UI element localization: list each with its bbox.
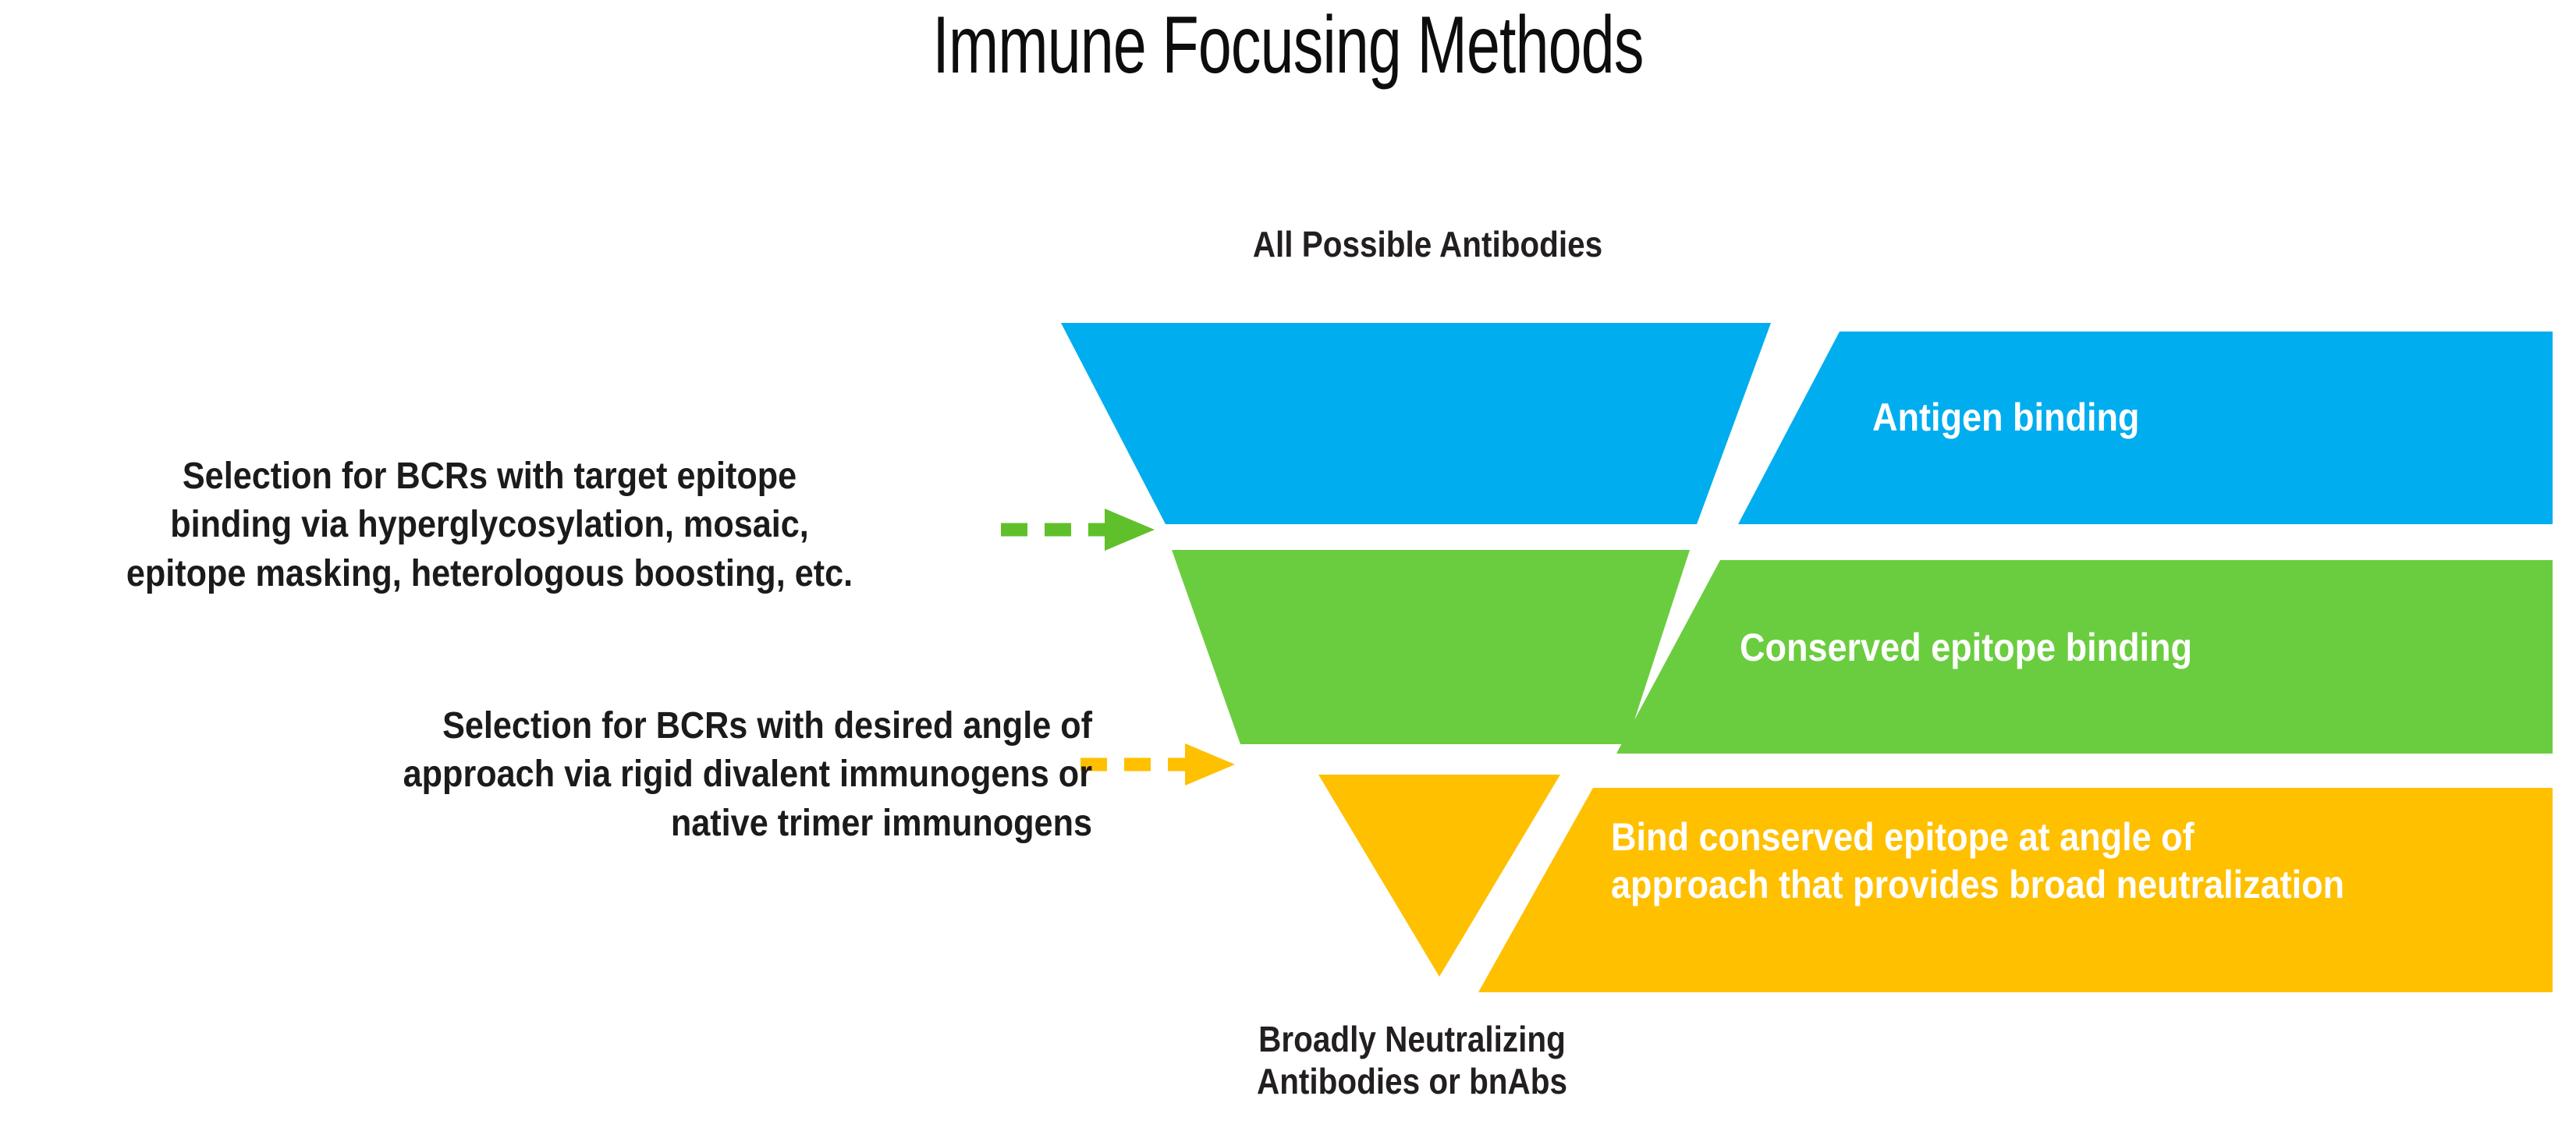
bar-label-line: approach that provides broad neutralizat… bbox=[1611, 861, 2344, 909]
bar-label-broad-neutralization: Bind conserved epitope at angle of appro… bbox=[1611, 814, 2344, 909]
bar-label-line: Conserved epitope binding bbox=[1740, 624, 2192, 672]
annotation-line: binding via hyperglycosylation, mosaic, bbox=[49, 501, 931, 549]
bar-label-antigen-binding: Antigen binding bbox=[1872, 394, 2139, 442]
green-dashed-arrow bbox=[1001, 509, 1155, 551]
yellow-dashed-arrow bbox=[1080, 743, 1235, 786]
annotation-line: approach via rigid divalent immunogens o… bbox=[261, 750, 1093, 799]
bar-antigen-binding bbox=[1738, 332, 2553, 524]
annotation-line: epitope masking, heterologous boosting, … bbox=[49, 550, 931, 598]
annotation-line: Selection for BCRs with desired angle of bbox=[261, 702, 1093, 750]
diagram-canvas: Immune Focusing Methods All Possible Ant… bbox=[0, 0, 2576, 1135]
funnel-bottom-caption: Broadly Neutralizing Antibodies or bnAbs bbox=[1151, 1019, 1673, 1103]
bar-label-conserved-epitope: Conserved epitope binding bbox=[1740, 624, 2192, 672]
bar-label-line: Antigen binding bbox=[1872, 394, 2139, 442]
annotation-hyperglycosylation: Selection for BCRs with target epitope b… bbox=[49, 452, 931, 598]
annotation-line: Selection for BCRs with target epitope bbox=[49, 452, 931, 501]
funnel-segment-antigen-binding bbox=[1061, 323, 1771, 524]
bar-label-line: Bind conserved epitope at angle of bbox=[1611, 814, 2344, 861]
annotation-line: native trimer immunogens bbox=[261, 800, 1093, 848]
annotation-angle-of-approach: Selection for BCRs with desired angle of… bbox=[261, 702, 1093, 848]
caption-line: Antibodies or bnAbs bbox=[1151, 1061, 1673, 1103]
caption-line: Broadly Neutralizing bbox=[1151, 1019, 1673, 1061]
funnel-segment-conserved-epitope bbox=[1172, 550, 1690, 744]
